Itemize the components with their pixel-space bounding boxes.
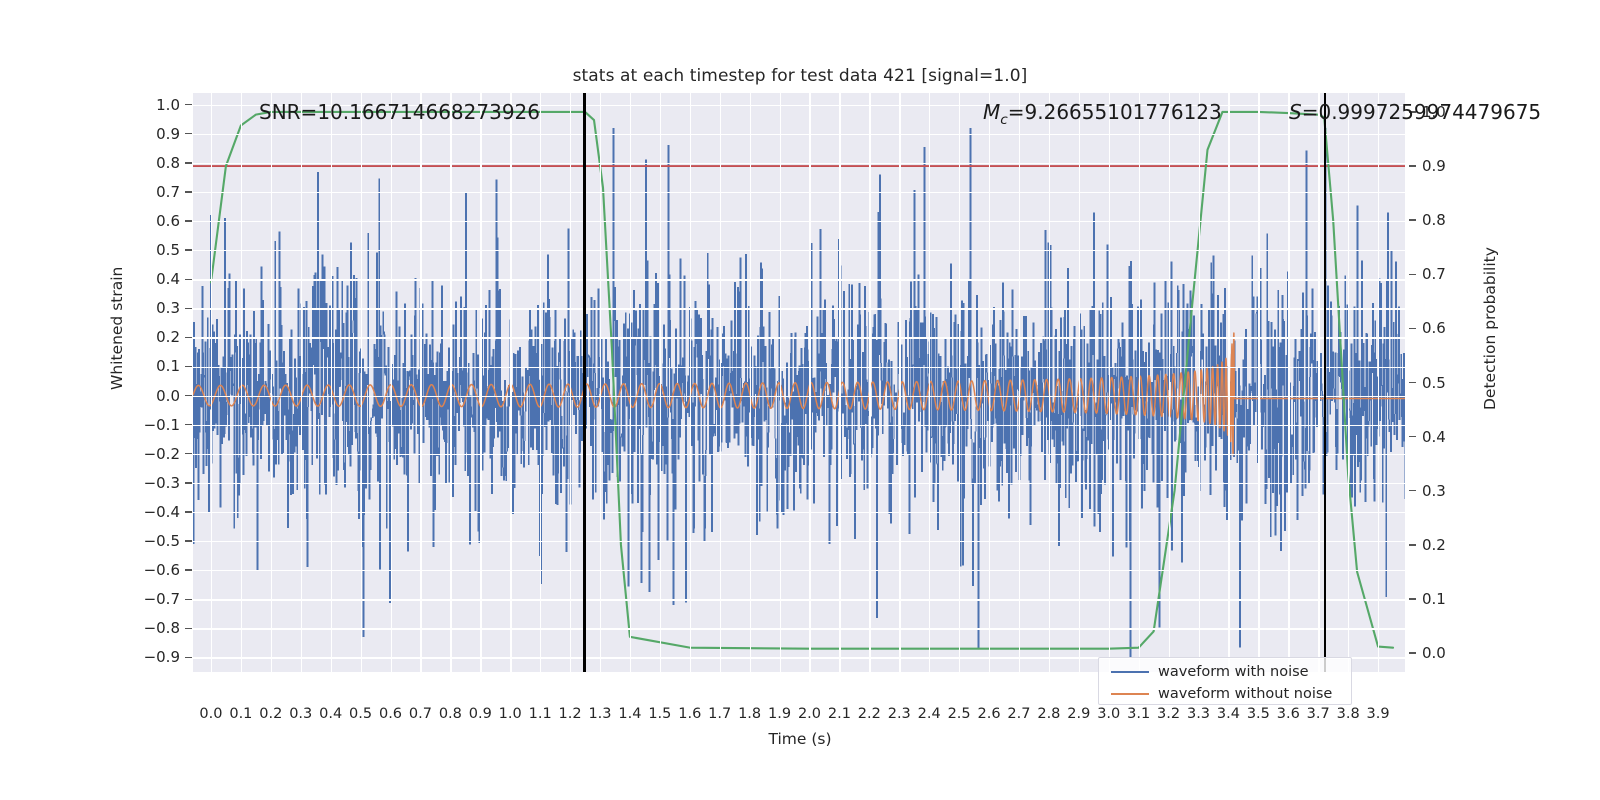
annotation-mc-value: 9.26655101776123 [1025,100,1222,124]
gridline-vertical [750,93,751,672]
y-axis-right-tick-label: 0.4 [1422,428,1484,446]
gridline-vertical [1019,93,1020,672]
gridline-vertical [600,93,601,672]
gridline-vertical [839,93,840,672]
gridline-vertical [391,93,392,672]
plot-area [193,93,1405,672]
gridline-vertical [1348,93,1349,672]
gridline-horizontal [193,512,1405,513]
y-axis-left-tick-label: 0.0 [118,387,180,405]
y-axis-left-tick-mark [185,191,192,192]
gridline-horizontal [193,570,1405,571]
x-axis-tick-label: 2.2 [858,706,881,722]
gridline-vertical [1139,93,1140,672]
gridline-vertical [510,93,511,672]
gridline-vertical [1318,93,1319,672]
y-axis-left-tick-label: −0.4 [118,503,180,521]
y-axis-left-tick-label: 0.7 [118,183,180,201]
x-axis-title: Time (s) [0,730,1600,748]
gridline-vertical [809,93,810,672]
y-axis-left-tick-label: −0.9 [118,648,180,666]
y-axis-right-title: Detection probability [1481,247,1499,410]
y-axis-left-tick-label: 0.8 [118,154,180,172]
x-axis-tick-label: 0.6 [379,706,402,722]
gridline-vertical [540,93,541,672]
y-axis-left-tick-mark [185,279,192,280]
gridline-horizontal [193,396,1405,397]
x-axis-tick-label: 1.9 [768,706,791,722]
legend[interactable]: waveform with noise waveform without noi… [1098,657,1352,705]
y-axis-right-tick-mark [1409,490,1416,491]
gridline-horizontal [193,425,1405,426]
y-axis-left-tick-mark [185,249,192,250]
annotation-s-symbol: S [1289,100,1302,124]
annotation-chirp-mass: Mc=9.26655101776123 [983,100,1222,128]
gridline-vertical [361,93,362,672]
gridline-vertical [1378,93,1379,672]
gridline-vertical [899,93,900,672]
annotation-snr-value: 10.166714668273926 [317,100,540,124]
x-axis-tick-label: 2.5 [948,706,971,722]
gridline-horizontal [193,367,1405,368]
x-axis-tick-label: 2.1 [828,706,851,722]
legend-item-0[interactable]: waveform with noise [1099,660,1309,684]
y-axis-right-tick-label: 0.6 [1422,319,1484,337]
y-axis-right-tick-mark [1409,598,1416,599]
x-axis-tick-label: 0.5 [349,706,372,722]
annotation-snr: SNR=10.166714668273926 [259,100,540,124]
gridline-vertical [301,93,302,672]
y-axis-right-tick-mark [1409,382,1416,383]
x-axis-tick-label: 3.2 [1157,706,1180,722]
x-axis-tick-label: 3.5 [1247,706,1270,722]
x-axis-tick-label: 2.3 [888,706,911,722]
x-axis-tick-label: 3.9 [1367,706,1390,722]
x-axis-tick-label: 0.0 [199,706,222,722]
x-axis-tick-label: 1.3 [588,706,611,722]
gridline-horizontal [193,279,1405,280]
gridline-vertical [1079,93,1080,672]
annotation-s-equals: = [1302,100,1319,124]
gridline-vertical [869,93,870,672]
legend-label-waveform-with-noise: waveform with noise [1158,664,1309,680]
gridline-vertical [959,93,960,672]
gridline-vertical [1228,93,1229,672]
event-marker-line-1 [1324,93,1327,672]
annotation-snr-label: SNR= [259,100,317,124]
legend-item-1[interactable]: waveform without noise [1099,682,1332,706]
x-axis-tick-label: 2.6 [977,706,1000,722]
y-axis-left-tick-mark [185,104,192,105]
y-axis-left-tick-mark [185,628,192,629]
x-axis-tick-label: 1.6 [678,706,701,722]
gridline-horizontal [193,454,1405,455]
y-axis-left-tick-label: 0.2 [118,328,180,346]
x-axis-tick-label: 0.1 [229,706,252,722]
gridline-vertical [989,93,990,672]
y-axis-right-tick-mark [1409,328,1416,329]
y-axis-left-tick-label: 0.9 [118,125,180,143]
y-axis-left-tick-mark [185,540,192,541]
y-axis-left-tick-label: −0.6 [118,561,180,579]
x-axis-tick-label: 0.3 [289,706,312,722]
gridline-vertical [690,93,691,672]
gridline-horizontal [193,541,1405,542]
y-axis-left-tick-mark [185,220,192,221]
y-axis-right-tick-label: 0.2 [1422,536,1484,554]
gridline-vertical [780,93,781,672]
gridline-horizontal [193,163,1405,164]
gridline-vertical [1169,93,1170,672]
x-axis-tick-label: 1.4 [618,706,641,722]
y-axis-right-tick-mark [1409,274,1416,275]
y-axis-right-tick-label: 0.3 [1422,482,1484,500]
x-axis-tick-label: 2.0 [798,706,821,722]
y-axis-left-tick-mark [185,424,192,425]
y-axis-left-tick-mark [185,599,192,600]
gridline-vertical [1258,93,1259,672]
legend-swatch-waveform-with-noise [1111,671,1149,673]
chart-canvas [193,93,1405,672]
x-axis-tick-label: 1.5 [648,706,671,722]
gridline-vertical [1109,93,1110,672]
y-axis-left-tick-mark [185,133,192,134]
x-axis-tick-label: 0.7 [409,706,432,722]
y-axis-right-tick-label: 0.7 [1422,265,1484,283]
y-axis-left-tick-label: 0.4 [118,270,180,288]
y-axis-left-tick-label: −0.5 [118,532,180,550]
x-axis-tick-label: 3.6 [1277,706,1300,722]
y-axis-right-tick-mark [1409,436,1416,437]
gridline-horizontal [193,337,1405,338]
y-axis-right-tick-label: 0.8 [1422,211,1484,229]
x-axis-tick-label: 3.0 [1097,706,1120,722]
y-axis-left-tick-label: 1.0 [118,96,180,114]
gridline-horizontal [193,308,1405,309]
gridline-vertical [450,93,451,672]
legend-swatch-waveform-without-noise [1111,693,1149,695]
annotation-s-value: 0.9997259974479675 [1318,100,1541,124]
annotation-mc-symbol: M [983,100,1000,124]
x-axis-tick-label: 3.1 [1127,706,1150,722]
y-axis-right-tick-mark [1409,165,1416,166]
y-axis-right-tick-mark [1409,544,1416,545]
gridline-horizontal [193,250,1405,251]
event-marker-line-0 [583,93,586,672]
y-axis-right-tick-label: 0.5 [1422,374,1484,392]
x-axis-tick-label: 2.9 [1067,706,1090,722]
y-axis-right-tick-label: 0.1 [1422,590,1484,608]
x-axis-tick-label: 0.2 [259,706,282,722]
y-axis-left-tick-mark [185,395,192,396]
gridline-vertical [1049,93,1050,672]
y-axis-left-tick-mark [185,482,192,483]
gridline-vertical [630,93,631,672]
x-axis-tick-label: 1.1 [529,706,552,722]
x-axis-tick-label: 3.8 [1337,706,1360,722]
x-axis-tick-label: 1.8 [738,706,761,722]
y-axis-left-tick-mark [185,366,192,367]
gridline-horizontal [193,628,1405,629]
gridline-vertical [480,93,481,672]
gridline-vertical [241,93,242,672]
gridline-horizontal [193,483,1405,484]
y-axis-left-tick-label: 0.6 [118,212,180,230]
y-axis-left-tick-label: −0.7 [118,590,180,608]
y-axis-left-tick-mark [185,511,192,512]
gridline-vertical [660,93,661,672]
x-axis-tick-label: 0.9 [469,706,492,722]
gridline-horizontal [193,134,1405,135]
y-axis-right-tick-label: 0.0 [1422,644,1484,662]
x-axis-tick-label: 2.4 [918,706,941,722]
gridline-vertical [720,93,721,672]
x-axis-tick-label: 0.4 [319,706,342,722]
gridline-vertical [271,93,272,672]
x-axis-tick-label: 1.2 [559,706,582,722]
gridline-horizontal [193,599,1405,600]
y-axis-left-title: Whitened strain [108,267,126,390]
y-axis-left-tick-mark [185,453,192,454]
gridline-vertical [570,93,571,672]
x-axis-tick-label: 3.4 [1217,706,1240,722]
y-axis-left-tick-mark [185,308,192,309]
gridline-vertical [211,93,212,672]
y-axis-left-tick-label: 0.1 [118,357,180,375]
gridline-vertical [420,93,421,672]
x-axis-tick-label: 1.0 [499,706,522,722]
gridline-vertical [1199,93,1200,672]
legend-label-waveform-without-noise: waveform without noise [1158,686,1332,702]
x-axis-tick-label: 3.7 [1307,706,1330,722]
x-axis-tick-label: 2.8 [1037,706,1060,722]
gridline-horizontal [193,192,1405,193]
y-axis-left-tick-mark [185,569,192,570]
gridline-vertical [331,93,332,672]
page-title: stats at each timestep for test data 421… [0,66,1600,86]
gridline-horizontal [193,221,1405,222]
annotation-mc-subscript: c [1000,112,1007,128]
y-axis-left-tick-label: −0.8 [118,619,180,637]
y-axis-left-tick-label: 0.5 [118,241,180,259]
x-axis-tick-label: 2.7 [1007,706,1030,722]
x-axis-tick-label: 1.7 [708,706,731,722]
y-axis-right-tick-mark [1409,219,1416,220]
y-axis-left-tick-mark [185,657,192,658]
y-axis-left-tick-label: −0.3 [118,474,180,492]
x-axis-tick-label: 0.8 [439,706,462,722]
annotation-mc-equals: = [1008,100,1025,124]
y-axis-right-tick-mark [1409,652,1416,653]
y-axis-left-tick-label: −0.2 [118,445,180,463]
gridline-vertical [929,93,930,672]
y-axis-left-tick-mark [185,162,192,163]
y-axis-left-tick-mark [185,337,192,338]
annotation-score: S=0.9997259974479675 [1289,100,1541,124]
gridline-vertical [1288,93,1289,672]
y-axis-left-tick-label: 0.3 [118,299,180,317]
x-axis-tick-label: 3.3 [1187,706,1210,722]
y-axis-left-tick-label: −0.1 [118,416,180,434]
y-axis-right-tick-label: 0.9 [1422,157,1484,175]
